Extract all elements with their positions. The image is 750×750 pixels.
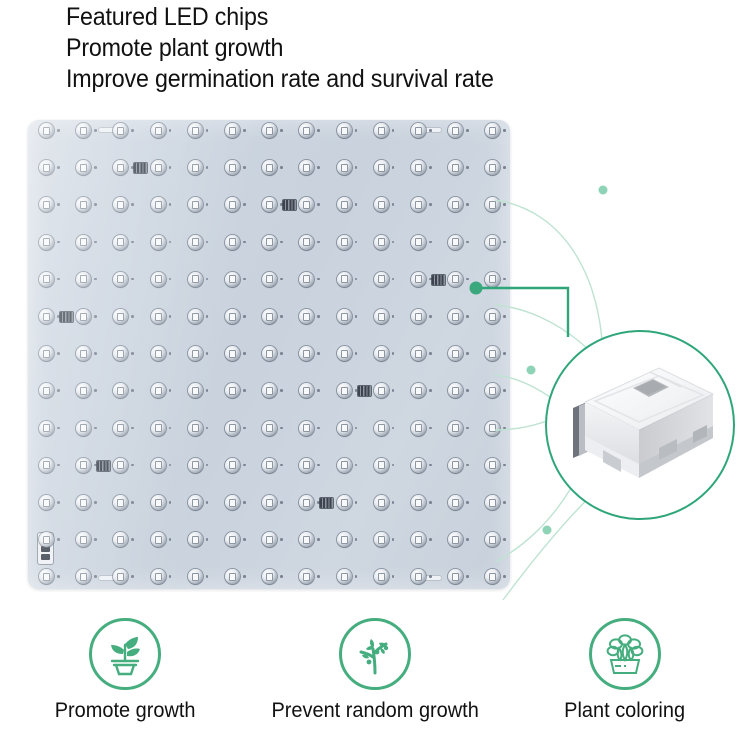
- led-chip: [262, 346, 277, 361]
- led-solder-dot: [206, 166, 209, 169]
- led-solder-dot: [169, 464, 172, 467]
- led-chip: [411, 532, 426, 547]
- led-chip: [448, 383, 463, 398]
- led-chip: [76, 123, 91, 138]
- led-emitter: [192, 499, 199, 507]
- led-solder-dot: [57, 427, 60, 430]
- led-solder-dot: [131, 575, 134, 578]
- led-emitter: [117, 127, 124, 135]
- led-emitter: [378, 387, 385, 395]
- led-chip: [113, 383, 128, 398]
- led-emitter: [43, 350, 50, 358]
- led-chip: [225, 309, 240, 324]
- led-solder-dot: [317, 427, 320, 430]
- led-chip: [374, 383, 389, 398]
- terminal-pin: [41, 554, 50, 560]
- led-emitter: [452, 350, 459, 358]
- led-emitter: [80, 499, 87, 507]
- feature-item-plant-coloring[interactable]: Plant coloring: [500, 618, 750, 750]
- led-emitter: [117, 536, 124, 544]
- led-solder-dot: [429, 352, 432, 355]
- led-chip: [113, 458, 128, 473]
- led-emitter: [229, 275, 236, 283]
- feature-ring: [589, 618, 661, 690]
- led-solder-dot: [355, 389, 358, 392]
- led-chip: [374, 458, 389, 473]
- led-chip: [151, 123, 166, 138]
- led-solder-dot: [392, 203, 395, 206]
- headline-line-2: Promote plant growth: [66, 33, 680, 64]
- led-solder-dot: [57, 129, 60, 132]
- led-chip: [113, 495, 128, 510]
- led-solder-dot: [169, 166, 172, 169]
- led-emitter: [117, 387, 124, 395]
- led-chip: [76, 197, 91, 212]
- led-emitter: [341, 238, 348, 246]
- led-chip: [411, 421, 426, 436]
- led-chip: [225, 197, 240, 212]
- led-solder-dot: [466, 464, 469, 467]
- led-solder-dot: [466, 389, 469, 392]
- led-emitter: [303, 424, 310, 432]
- led-emitter: [80, 461, 87, 469]
- led-solder-dot: [355, 427, 358, 430]
- led-emitter: [80, 536, 87, 544]
- led-chip: [374, 495, 389, 510]
- led-emitter: [192, 536, 199, 544]
- led-solder-dot: [243, 278, 246, 281]
- led-solder-dot: [280, 464, 283, 467]
- led-emitter: [192, 424, 199, 432]
- led-chip: [374, 272, 389, 287]
- led-emitter: [80, 313, 87, 321]
- led-chip: [448, 123, 463, 138]
- led-emitter: [341, 275, 348, 283]
- led-emitter: [303, 164, 310, 172]
- led-emitter: [229, 461, 236, 469]
- led-chip: [76, 272, 91, 287]
- smd-led-chip-icon: [547, 332, 733, 518]
- led-chip: [39, 235, 54, 250]
- led-emitter: [452, 424, 459, 432]
- led-emitter: [415, 201, 422, 209]
- led-solder-dot: [131, 427, 134, 430]
- driver-component: [134, 163, 147, 173]
- led-emitter: [155, 313, 162, 321]
- led-emitter: [378, 350, 385, 358]
- led-emitter: [192, 573, 199, 581]
- led-solder-dot: [206, 501, 209, 504]
- led-emitter: [415, 350, 422, 358]
- led-solder-dot: [429, 241, 432, 244]
- led-solder-dot: [280, 575, 283, 578]
- led-chip: [151, 383, 166, 398]
- led-emitter: [415, 313, 422, 321]
- led-solder-dot: [94, 241, 97, 244]
- led-chip: [337, 123, 352, 138]
- led-solder-dot: [243, 389, 246, 392]
- led-emitter: [43, 424, 50, 432]
- led-emitter: [452, 536, 459, 544]
- led-emitter: [266, 499, 273, 507]
- led-chip: [113, 272, 128, 287]
- led-solder-dot: [355, 538, 358, 541]
- led-emitter: [415, 536, 422, 544]
- led-chip: [188, 383, 203, 398]
- led-emitter: [192, 350, 199, 358]
- led-emitter: [43, 313, 50, 321]
- led-emitter: [229, 573, 236, 581]
- driver-component: [432, 275, 445, 285]
- led-emitter: [341, 499, 348, 507]
- led-solder-dot: [317, 315, 320, 318]
- feature-item-promote-growth[interactable]: Promote growth: [0, 618, 250, 750]
- led-emitter: [378, 573, 385, 581]
- led-emitter: [341, 573, 348, 581]
- led-chip: [337, 235, 352, 250]
- led-emitter: [192, 127, 199, 135]
- led-emitter: [378, 536, 385, 544]
- led-chip: [337, 569, 352, 584]
- led-emitter: [266, 127, 273, 135]
- led-solder-dot: [94, 501, 97, 504]
- led-chip: [225, 532, 240, 547]
- led-solder-dot: [243, 464, 246, 467]
- led-solder-dot: [131, 501, 134, 504]
- led-chip: [262, 160, 277, 175]
- led-chip: [411, 495, 426, 510]
- led-chip: [151, 309, 166, 324]
- led-chip: [299, 495, 314, 510]
- led-emitter: [117, 201, 124, 209]
- led-chip: [374, 160, 389, 175]
- led-solder-dot: [94, 315, 97, 318]
- led-emitter: [378, 201, 385, 209]
- led-solder-dot: [466, 538, 469, 541]
- led-emitter: [303, 127, 310, 135]
- led-solder-dot: [243, 315, 246, 318]
- led-solder-dot: [429, 464, 432, 467]
- led-chip: [448, 495, 463, 510]
- led-chip: [225, 569, 240, 584]
- led-chip: [151, 272, 166, 287]
- led-emitter: [192, 387, 199, 395]
- led-chip: [337, 421, 352, 436]
- led-emitter: [155, 275, 162, 283]
- led-emitter: [80, 238, 87, 246]
- led-chip: [188, 495, 203, 510]
- led-emitter: [266, 350, 273, 358]
- led-emitter: [43, 461, 50, 469]
- led-chip: [113, 197, 128, 212]
- led-chip: [113, 309, 128, 324]
- led-chip: [39, 197, 54, 212]
- led-chip: [113, 123, 128, 138]
- led-chip: [299, 383, 314, 398]
- led-chip: [374, 235, 389, 250]
- led-emitter: [341, 350, 348, 358]
- led-chip: [262, 383, 277, 398]
- led-emitter: [341, 164, 348, 172]
- led-emitter: [43, 499, 50, 507]
- led-solder-dot: [243, 166, 246, 169]
- led-chip: [39, 383, 54, 398]
- led-emitter: [378, 275, 385, 283]
- led-solder-dot: [466, 501, 469, 504]
- led-chip: [411, 309, 426, 324]
- led-chip: [188, 532, 203, 547]
- led-solder-dot: [355, 352, 358, 355]
- led-emitter: [266, 536, 273, 544]
- led-chip: [337, 532, 352, 547]
- led-emitter: [378, 461, 385, 469]
- led-solder-dot: [243, 427, 246, 430]
- led-solder-dot: [169, 315, 172, 318]
- led-emitter: [155, 127, 162, 135]
- led-emitter: [415, 127, 422, 135]
- led-emitter: [266, 461, 273, 469]
- led-chip: [39, 123, 54, 138]
- led-solder-dot: [466, 129, 469, 132]
- led-solder-dot: [392, 501, 395, 504]
- led-solder-dot: [94, 427, 97, 430]
- led-chip: [337, 272, 352, 287]
- led-solder-dot: [392, 129, 395, 132]
- led-emitter: [378, 313, 385, 321]
- led-emitter: [452, 313, 459, 321]
- led-chip: [374, 569, 389, 584]
- led-emitter: [266, 313, 273, 321]
- led-emitter: [452, 499, 459, 507]
- led-chip: [299, 123, 314, 138]
- led-chip: [76, 421, 91, 436]
- led-chip: [411, 458, 426, 473]
- led-chip: [262, 272, 277, 287]
- led-solder-dot: [94, 166, 97, 169]
- led-emitter: [80, 275, 87, 283]
- led-chip: [337, 197, 352, 212]
- led-emitter: [378, 424, 385, 432]
- led-solder-dot: [206, 203, 209, 206]
- led-emitter: [117, 499, 124, 507]
- feature-item-prevent-random-growth[interactable]: Prevent random growth: [250, 618, 500, 750]
- led-emitter: [155, 424, 162, 432]
- led-chip: [76, 458, 91, 473]
- led-solder-dot: [131, 352, 134, 355]
- led-emitter: [80, 424, 87, 432]
- led-chip: [225, 458, 240, 473]
- led-chip: [299, 569, 314, 584]
- led-solder-dot: [392, 278, 395, 281]
- led-solder-dot: [57, 203, 60, 206]
- led-emitter: [43, 201, 50, 209]
- led-chip: [225, 160, 240, 175]
- led-solder-dot: [317, 389, 320, 392]
- led-emitter: [229, 238, 236, 246]
- led-solder-dot: [317, 203, 320, 206]
- led-emitter: [155, 164, 162, 172]
- led-chip: [225, 123, 240, 138]
- led-emitter: [266, 201, 273, 209]
- led-chip: [151, 458, 166, 473]
- led-solder-dot: [317, 241, 320, 244]
- led-solder-dot: [280, 389, 283, 392]
- led-emitter: [43, 275, 50, 283]
- led-chip: [262, 532, 277, 547]
- feature-ring: [89, 618, 161, 690]
- led-emitter: [229, 164, 236, 172]
- led-emitter: [43, 238, 50, 246]
- led-solder-dot: [243, 241, 246, 244]
- headline-line-1: Featured LED chips: [66, 2, 680, 33]
- led-emitter: [378, 127, 385, 135]
- led-solder-dot: [280, 278, 283, 281]
- driver-component: [97, 461, 110, 471]
- led-solder-dot: [355, 501, 358, 504]
- led-emitter: [229, 127, 236, 135]
- led-chip: [188, 569, 203, 584]
- led-solder-dot: [57, 575, 60, 578]
- led-solder-dot: [57, 538, 60, 541]
- led-emitter: [155, 536, 162, 544]
- led-emitter: [415, 387, 422, 395]
- flowering-plant-icon: [602, 631, 648, 677]
- led-emitter: [415, 164, 422, 172]
- led-solder-dot: [169, 575, 172, 578]
- led-chip: [113, 346, 128, 361]
- led-chip: [448, 532, 463, 547]
- led-solder-dot: [355, 166, 358, 169]
- led-emitter: [43, 536, 50, 544]
- led-solder-dot: [206, 427, 209, 430]
- led-solder-dot: [280, 427, 283, 430]
- led-chip: [262, 197, 277, 212]
- led-chip: [113, 569, 128, 584]
- led-chip: [262, 495, 277, 510]
- led-solder-dot: [243, 352, 246, 355]
- led-solder-dot: [169, 538, 172, 541]
- led-emitter: [452, 127, 459, 135]
- led-emitter: [229, 350, 236, 358]
- led-emitter: [192, 238, 199, 246]
- led-solder-dot: [57, 352, 60, 355]
- led-solder-dot: [466, 203, 469, 206]
- led-chip: [337, 458, 352, 473]
- led-solder-dot: [466, 241, 469, 244]
- feature-label: Plant coloring: [565, 699, 686, 723]
- led-chip: [151, 495, 166, 510]
- led-emitter: [266, 573, 273, 581]
- led-emitter: [43, 127, 50, 135]
- led-chip-callout: [545, 330, 735, 520]
- led-solder-dot: [94, 203, 97, 206]
- led-chip: [411, 160, 426, 175]
- led-solder-dot: [131, 538, 134, 541]
- led-solder-dot: [392, 427, 395, 430]
- led-emitter: [43, 573, 50, 581]
- led-solder-dot: [429, 575, 432, 578]
- led-emitter: [266, 275, 273, 283]
- led-emitter: [341, 461, 348, 469]
- led-emitter: [415, 573, 422, 581]
- led-emitter: [378, 164, 385, 172]
- led-emitter: [452, 164, 459, 172]
- led-emitter: [452, 573, 459, 581]
- led-chip: [225, 421, 240, 436]
- led-chip: [76, 309, 91, 324]
- led-chip: [411, 123, 426, 138]
- led-chip: [299, 197, 314, 212]
- led-solder-dot: [94, 278, 97, 281]
- led-chip: [374, 197, 389, 212]
- led-chip: [262, 309, 277, 324]
- led-solder-dot: [280, 501, 283, 504]
- led-chip: [76, 346, 91, 361]
- led-emitter: [266, 238, 273, 246]
- led-solder-dot: [94, 575, 97, 578]
- driver-component: [283, 200, 296, 210]
- led-emitter: [80, 387, 87, 395]
- led-chip: [188, 197, 203, 212]
- led-solder-dot: [392, 352, 395, 355]
- led-chip: [113, 532, 128, 547]
- led-emitter: [341, 536, 348, 544]
- sapling-tree-icon: [352, 631, 398, 677]
- led-solder-dot: [206, 315, 209, 318]
- led-emitter: [117, 275, 124, 283]
- led-solder-dot: [57, 389, 60, 392]
- led-solder-dot: [392, 166, 395, 169]
- led-emitter: [303, 238, 310, 246]
- led-chip: [151, 235, 166, 250]
- led-chip: [374, 309, 389, 324]
- led-chip: [188, 272, 203, 287]
- led-chip: [113, 421, 128, 436]
- led-chip: [39, 421, 54, 436]
- led-emitter: [155, 461, 162, 469]
- led-chip: [151, 569, 166, 584]
- led-chip: [225, 272, 240, 287]
- led-solder-dot: [206, 352, 209, 355]
- led-emitter: [80, 127, 87, 135]
- led-emitter: [155, 499, 162, 507]
- led-emitter: [303, 313, 310, 321]
- led-solder-dot: [429, 389, 432, 392]
- led-solder-dot: [355, 464, 358, 467]
- led-solder-dot: [206, 278, 209, 281]
- led-emitter: [117, 313, 124, 321]
- led-solder-dot: [429, 427, 432, 430]
- driver-component: [60, 312, 73, 322]
- headline-line-3: Improve germination rate and survival ra…: [66, 64, 680, 95]
- led-solder-dot: [206, 129, 209, 132]
- led-chip: [76, 532, 91, 547]
- led-solder-dot: [206, 464, 209, 467]
- led-solder-dot: [94, 389, 97, 392]
- led-emitter: [229, 387, 236, 395]
- feature-row: Promote growth: [0, 618, 750, 750]
- led-solder-dot: [429, 166, 432, 169]
- led-solder-dot: [94, 538, 97, 541]
- led-chip: [76, 383, 91, 398]
- led-emitter: [341, 201, 348, 209]
- led-emitter: [303, 201, 310, 209]
- led-emitter: [192, 275, 199, 283]
- led-chip: [39, 160, 54, 175]
- led-chip: [151, 160, 166, 175]
- led-emitter: [452, 387, 459, 395]
- led-emitter: [117, 573, 124, 581]
